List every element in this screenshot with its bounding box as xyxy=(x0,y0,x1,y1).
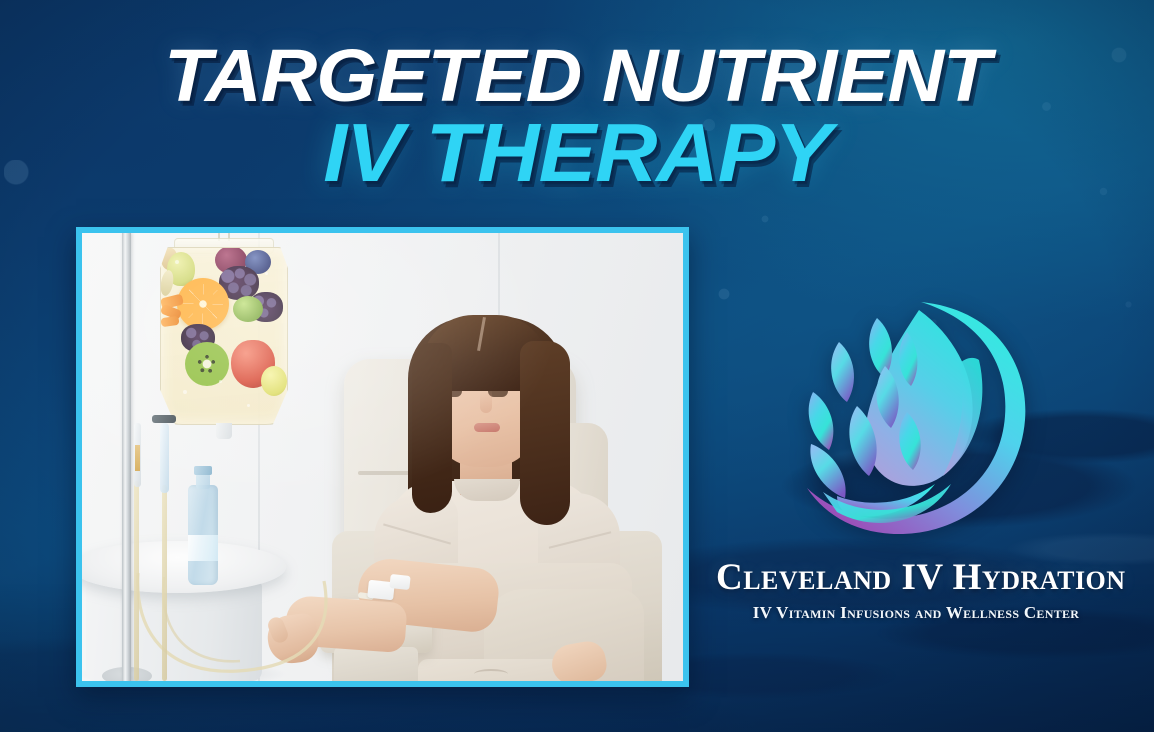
therapy-photo xyxy=(82,233,683,681)
logo-company-name: Cleveland IV Hydration xyxy=(716,556,1116,599)
cleveland-iv-hydration-logo-icon xyxy=(803,296,1029,540)
headline: TARGETED NUTRIENT IV THERAPY xyxy=(0,40,1154,193)
headline-line-2: IV THERAPY xyxy=(0,113,1154,193)
logo-leaf xyxy=(869,318,892,378)
logo-leaf xyxy=(810,444,845,498)
headline-line-1: TARGETED NUTRIENT xyxy=(0,40,1154,111)
logo-block: Cleveland IV Hydration IV Vitamin Infusi… xyxy=(716,296,1116,623)
promo-banner: TARGETED NUTRIENT IV THERAPY xyxy=(0,0,1154,732)
photo-highlight xyxy=(82,233,683,681)
logo-leaf xyxy=(809,392,834,450)
logo-leaf xyxy=(831,342,854,402)
photo-frame xyxy=(76,227,689,687)
logo-tagline: IV Vitamin Infusions and Wellness Center xyxy=(716,603,1116,623)
